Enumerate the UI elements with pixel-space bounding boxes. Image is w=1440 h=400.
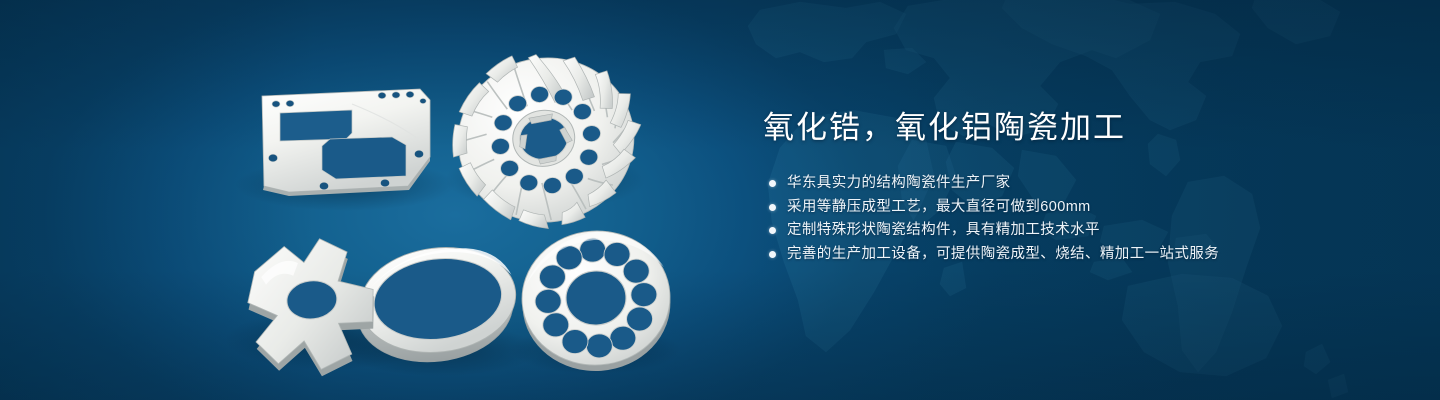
bullet-dot-icon [769, 227, 776, 234]
page-title: 氧化锆，氧化铝陶瓷加工 [763, 108, 1383, 148]
list-item-label: 采用等静压成型工艺，最大直径可做到600mm [787, 196, 1091, 219]
bullet-dot-icon [769, 251, 776, 258]
list-item-label: 定制特殊形状陶瓷结构件，具有精加工技术水平 [787, 219, 1100, 242]
banner-copy: 氧化锆，氧化铝陶瓷加工 华东具实力的结构陶瓷件生产厂家 采用等静压成型工艺，最大… [763, 108, 1383, 266]
ceramic-plate-part [262, 89, 430, 196]
feature-list: 华东具实力的结构陶瓷件生产厂家 采用等静压成型工艺，最大直径可做到600mm 定… [763, 172, 1383, 266]
list-item-label: 完善的生产加工设备，可提供陶瓷成型、烧结、精加工一站式服务 [787, 243, 1219, 266]
ceramic-impeller-part [441, 39, 654, 240]
list-item-label: 华东具实力的结构陶瓷件生产厂家 [787, 172, 1011, 195]
ceramic-products-image [0, 0, 760, 400]
bullet-dot-icon [769, 180, 776, 187]
list-item: 完善的生产加工设备，可提供陶瓷成型、烧结、精加工一站式服务 [763, 243, 1383, 266]
list-item: 华东具实力的结构陶瓷件生产厂家 [763, 172, 1383, 195]
hero-banner: 氧化锆，氧化铝陶瓷加工 华东具实力的结构陶瓷件生产厂家 采用等静压成型工艺，最大… [0, 0, 1440, 400]
list-item: 定制特殊形状陶瓷结构件，具有精加工技术水平 [763, 219, 1383, 242]
list-item: 采用等静压成型工艺，最大直径可做到600mm [763, 196, 1383, 219]
bullet-dot-icon [769, 204, 776, 211]
